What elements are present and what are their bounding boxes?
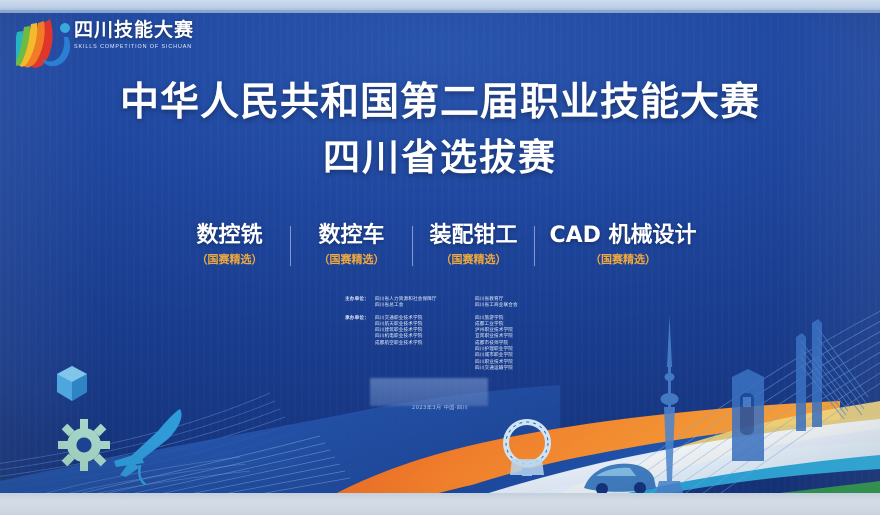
photo-bottom-edge [0, 493, 880, 515]
executive-organizers-row: 承办单位： 四川交通职业技术学院 四川航天职业技术学院 四川建筑职业技术学院 四… [345, 316, 575, 373]
logo-title-en: SKILLS COMPETITION OF SICHUAN [74, 43, 178, 52]
organizer-credits: 主办单位： 四川省人力资源和社会保障厅 四川省总工会 四川省教育厅 四川省工商业… [345, 297, 575, 378]
globe-icon [500, 419, 554, 477]
gear-icon [58, 419, 110, 471]
category-item-0: 数控铣 （国赛精选） [168, 222, 290, 268]
title-block: 中华人民共和国第二届职业技能大赛 四川省选拔赛 [0, 78, 880, 183]
airplane-icon [110, 405, 200, 485]
exec-label: 承办单位： [345, 316, 375, 373]
exec-column-2: 四川旅游学院 成都工业学院 泸州职业技术学院 宜宾职业技术学院 成都市技师学院 … [475, 316, 575, 373]
host-column-1: 四川省人力资源和社会保障厅 四川省总工会 [375, 297, 475, 310]
category-item-1: 数控车 （国赛精选） [290, 222, 412, 268]
category-subtitle: （国赛精选） [305, 252, 397, 268]
banner-photo: 四川技能大赛 SKILLS COMPETITION OF SICHUAN 中华人… [0, 0, 880, 515]
exec-column-1: 四川交通职业技术学院 四川航天职业技术学院 四川建筑职业技术学院 四川机电职业技… [375, 316, 475, 373]
cable-bridge-icon [796, 319, 868, 431]
sichuan-skills-logo: 四川技能大赛 SKILLS COMPETITION OF SICHUAN [16, 11, 178, 73]
category-subtitle: （国赛精选） [183, 252, 275, 268]
obscured-patch [370, 378, 488, 406]
org-entry: 四川省工商业联合会 [475, 303, 571, 309]
category-subtitle: （国赛精选） [427, 252, 519, 268]
host-organizers-row: 主办单位： 四川省人力资源和社会保障厅 四川省总工会 四川省教育厅 四川省工商业… [345, 297, 575, 310]
org-entry: 成都航空职业技术学院 [375, 341, 471, 347]
category-name: CAD 机械设计 [549, 222, 696, 250]
logo-title-cn: 四川技能大赛 [74, 19, 178, 41]
cube-icon [55, 364, 89, 404]
event-title-line2: 四川省选拔赛 [0, 133, 880, 183]
category-item-3: CAD 机械设计 （国赛精选） [534, 222, 711, 268]
host-column-2: 四川省教育厅 四川省工商业联合会 [475, 297, 575, 310]
category-name: 装配钳工 [427, 222, 519, 250]
org-entry: 四川交通运输学院 [475, 366, 571, 372]
competition-categories: 数控铣 （国赛精选） 数控车 （国赛精选） 装配钳工 （国赛精选） CAD 机械… [0, 222, 880, 268]
tower-building-icon [732, 369, 764, 461]
photo-top-edge [0, 0, 880, 13]
category-subtitle: （国赛精选） [549, 252, 696, 268]
org-entry: 四川省总工会 [375, 303, 471, 309]
category-name: 数控车 [305, 222, 397, 250]
event-title-line1: 中华人民共和国第二届职业技能大赛 [0, 78, 880, 128]
category-name: 数控铣 [183, 222, 275, 250]
host-label: 主办单位： [345, 297, 375, 310]
car-icon [580, 456, 658, 495]
category-item-2: 装配钳工 （国赛精选） [412, 222, 534, 268]
